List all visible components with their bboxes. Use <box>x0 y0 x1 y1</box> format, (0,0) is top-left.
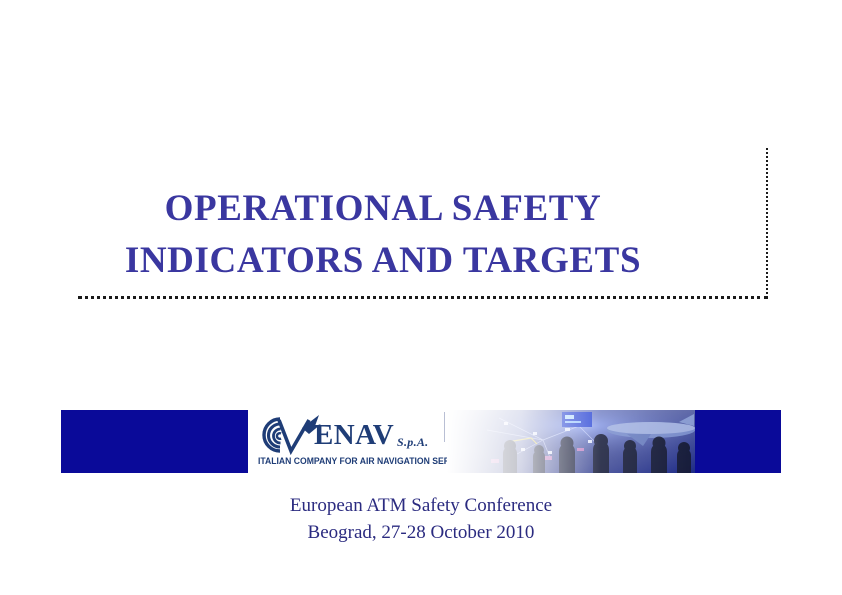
banner-block-left <box>61 410 248 473</box>
presentation-slide: OPERATIONAL SAFETY INDICATORS AND TARGET… <box>0 0 842 595</box>
enav-wordmark: ENAV <box>314 420 394 450</box>
bottom-banner: ENAV S.p.A. ITALIAN COMPANY FOR AIR NAVI… <box>61 410 781 473</box>
enav-logo: ENAV S.p.A. ITALIAN COMPANY FOR AIR NAVI… <box>257 412 447 472</box>
dotted-horizontal-rule <box>78 296 768 299</box>
footer-conference-name: European ATM Safety Conference <box>0 492 842 519</box>
slide-footer: European ATM Safety Conference Beograd, … <box>0 492 842 546</box>
slide-title-line-2: INDICATORS AND TARGETS <box>78 235 688 287</box>
enav-tagline: ITALIAN COMPANY FOR AIR NAVIGATION SERVI… <box>258 456 476 466</box>
footer-location-date: Beograd, 27-28 October 2010 <box>0 519 842 546</box>
control-room-photo <box>447 410 695 473</box>
slide-title-line-1: OPERATIONAL SAFETY <box>78 183 688 235</box>
banner-block-right <box>695 410 781 473</box>
dotted-vertical-rule <box>766 148 768 298</box>
enav-legal-suffix: S.p.A. <box>397 435 428 450</box>
slide-title: OPERATIONAL SAFETY INDICATORS AND TARGET… <box>78 183 688 287</box>
